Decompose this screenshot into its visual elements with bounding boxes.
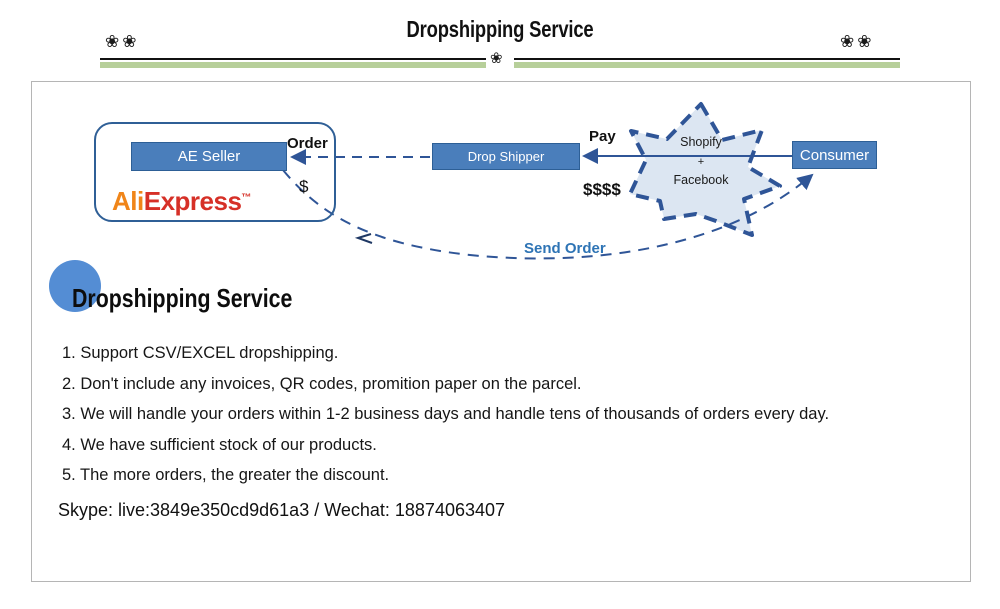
floral-ornament-center: ❀: [487, 51, 506, 66]
list-item: 4. We have sufficient stock of our produ…: [62, 437, 962, 454]
page-title: Dropshipping Service: [100, 16, 900, 43]
edge-label-order: Order: [287, 135, 328, 152]
section-title: Dropshipping Service: [72, 283, 292, 314]
divider-rule-right-green: [514, 62, 900, 68]
list-item: 2. Don't include any invoices, QR codes,…: [62, 376, 962, 393]
divider-rule-left-dark: [100, 58, 486, 60]
edge-label-pay: Pay: [589, 128, 616, 145]
floral-ornament-right: ❀❀: [840, 33, 875, 50]
edge-label-send-order: Send Order: [524, 240, 606, 257]
aliexpress-logo-ali: Ali: [112, 186, 144, 216]
divider-rule-left-green: [100, 62, 486, 68]
list-item: 1. Support CSV/EXCEL dropshipping.: [62, 345, 962, 362]
star-label-shopify: Shopify: [641, 135, 761, 149]
aliexpress-logo: AliExpress™: [112, 186, 251, 217]
node-ae-seller[interactable]: AE Seller: [131, 142, 287, 171]
list-item: 3. We will handle your orders within 1-2…: [62, 406, 962, 423]
node-drop-shipper[interactable]: Drop Shipper: [432, 143, 580, 170]
edge-label-money-single: $: [299, 177, 308, 197]
node-consumer[interactable]: Consumer: [792, 141, 877, 169]
page-header: ❀❀ Dropshipping Service ❀❀ ❀: [0, 0, 1000, 80]
service-details-list: 1. Support CSV/EXCEL dropshipping. 2. Do…: [62, 345, 962, 498]
contact-info: Skype: live:3849e350cd9d61a3 / Wechat: 1…: [58, 500, 505, 521]
aliexpress-logo-express: Express: [144, 186, 242, 216]
star-label-plus: +: [641, 156, 761, 168]
list-item: 5. The more orders, the greater the disc…: [62, 467, 962, 484]
divider-rule-right-dark: [514, 58, 900, 60]
edge-label-money-multi: $$$$: [583, 180, 621, 200]
trademark-icon: ™: [241, 192, 251, 203]
star-label-facebook: Facebook: [641, 173, 761, 187]
